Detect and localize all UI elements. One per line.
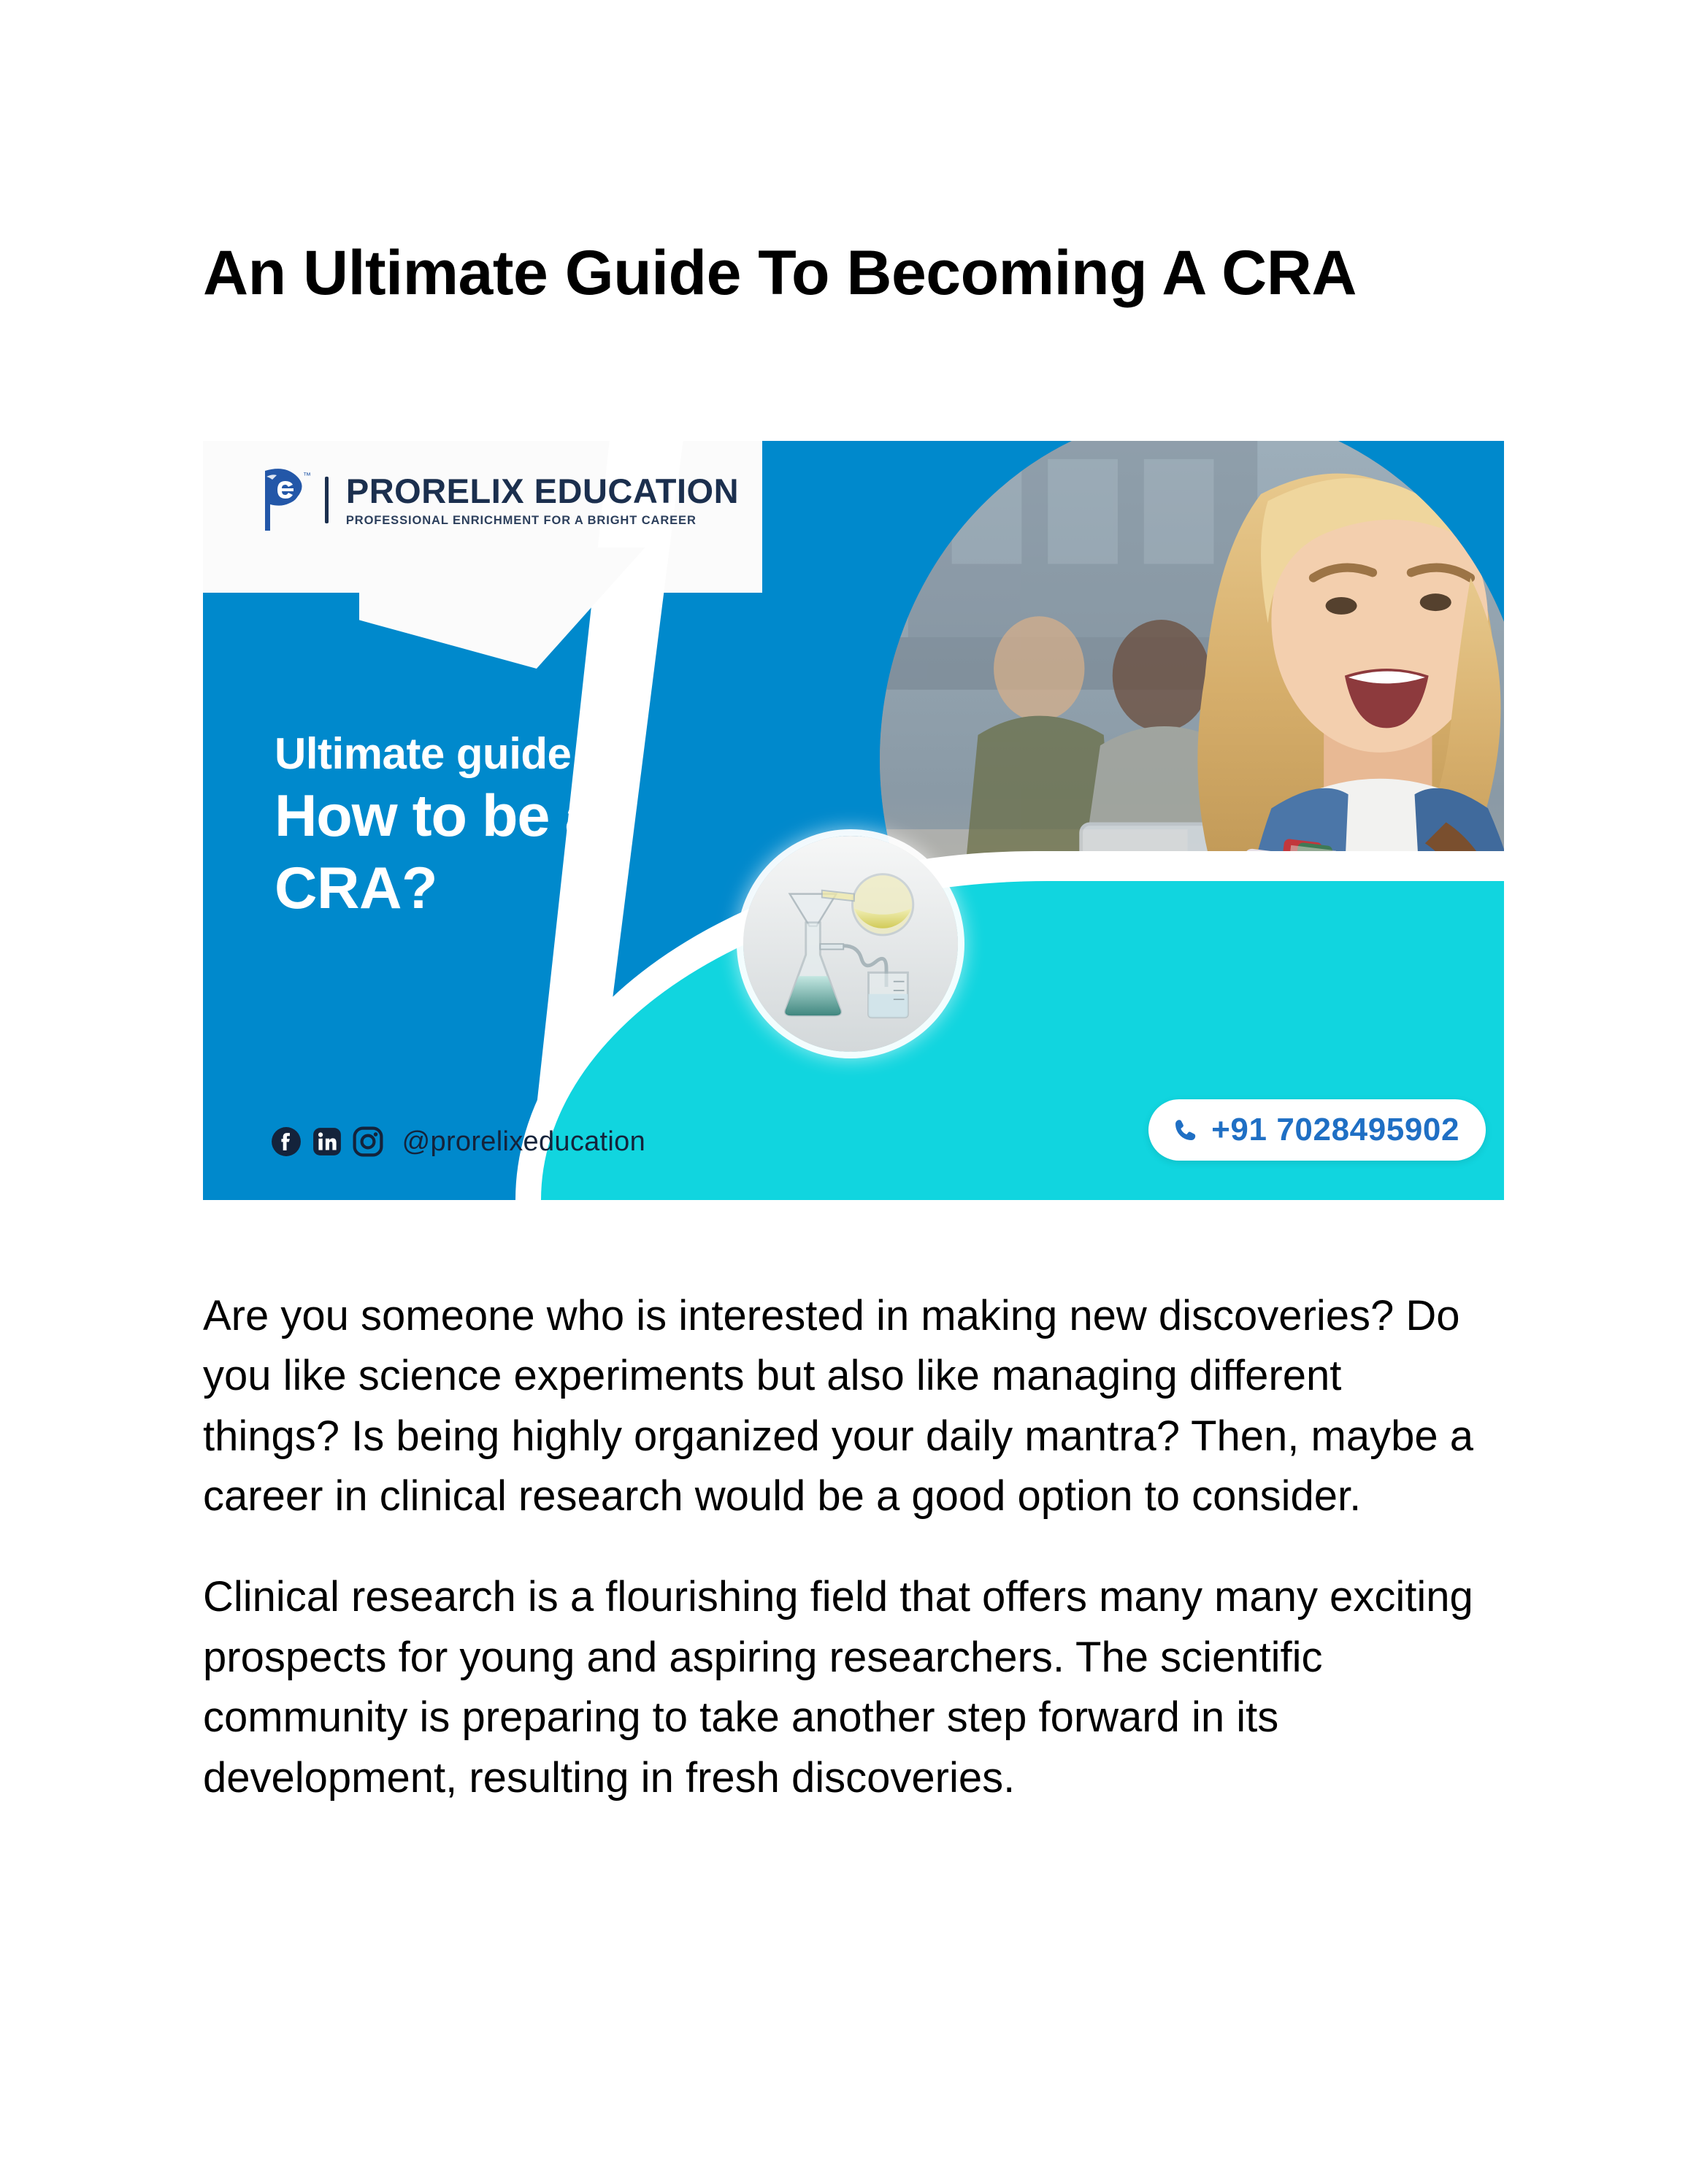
logo-text-block: PRORELIX EDUCATION PROFESSIONAL ENRICHME…: [346, 473, 739, 528]
brand-logo: ™ PRORELIX EDUCATION PROFESSIONAL ENRICH…: [258, 466, 739, 534]
body-copy: Are you someone who is interested in mak…: [203, 1286, 1477, 1849]
lab-glassware-illustration: [743, 836, 958, 1052]
logo-tagline: PROFESSIONAL ENRICHMENT FOR A BRIGHT CAR…: [346, 514, 739, 528]
social-links-row[interactable]: @prorelixeducation: [271, 1126, 645, 1158]
instagram-icon[interactable]: [353, 1126, 383, 1157]
banner-headline-line1: Ultimate guide on: [275, 729, 951, 778]
linkedin-icon[interactable]: [312, 1126, 342, 1157]
phone-handset-icon: [1172, 1116, 1200, 1144]
phone-number[interactable]: +91 7028495902: [1211, 1112, 1459, 1148]
laboratory-glassware-icon: [743, 836, 958, 1052]
document-page: An Ultimate Guide To Becoming A CRA: [0, 0, 1688, 2184]
paragraph-2: Clinical research is a flourishing field…: [203, 1567, 1477, 1807]
promo-banner: ™ PRORELIX EDUCATION PROFESSIONAL ENRICH…: [203, 441, 1504, 1200]
logo-name: PRORELIX EDUCATION: [346, 473, 739, 509]
svg-text:™: ™: [303, 472, 311, 480]
page-title: An Ultimate Guide To Becoming A CRA: [203, 231, 1503, 316]
facebook-icon[interactable]: [271, 1126, 302, 1157]
paragraph-1: Are you someone who is interested in mak…: [203, 1286, 1477, 1526]
prorelix-flag-logo-icon: ™: [258, 466, 312, 534]
phone-contact-badge[interactable]: +91 7028495902: [1148, 1099, 1486, 1161]
social-handle[interactable]: @prorelixeducation: [402, 1126, 645, 1158]
logo-divider: [325, 477, 329, 523]
